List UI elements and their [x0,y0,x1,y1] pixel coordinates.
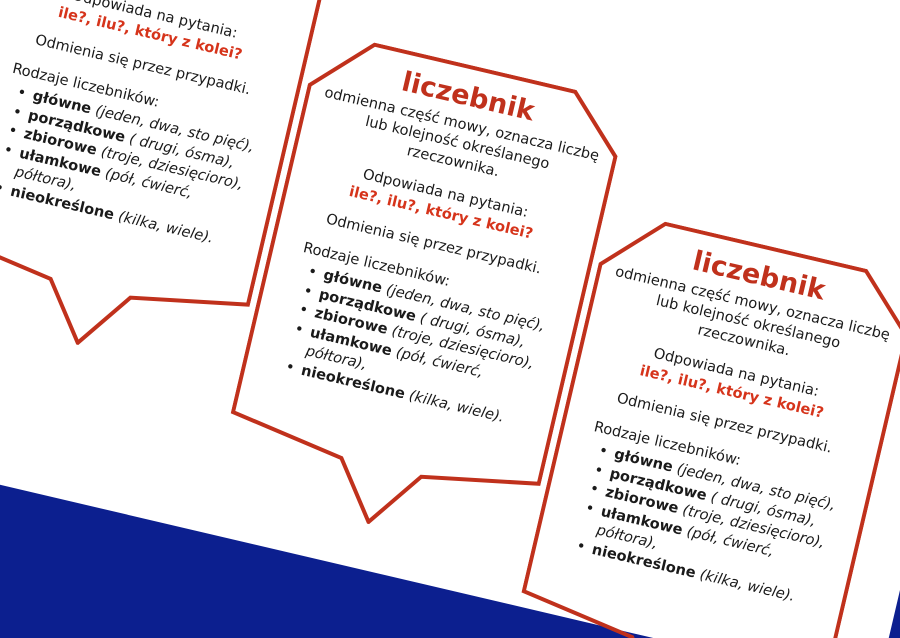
sheet-content: liczebnik odmienna część mowy, oznacza l… [0,0,900,638]
canvas: liczebnik odmienna część mowy, oznacza l… [0,0,900,638]
document-sheet: liczebnik odmienna część mowy, oznacza l… [0,0,900,638]
